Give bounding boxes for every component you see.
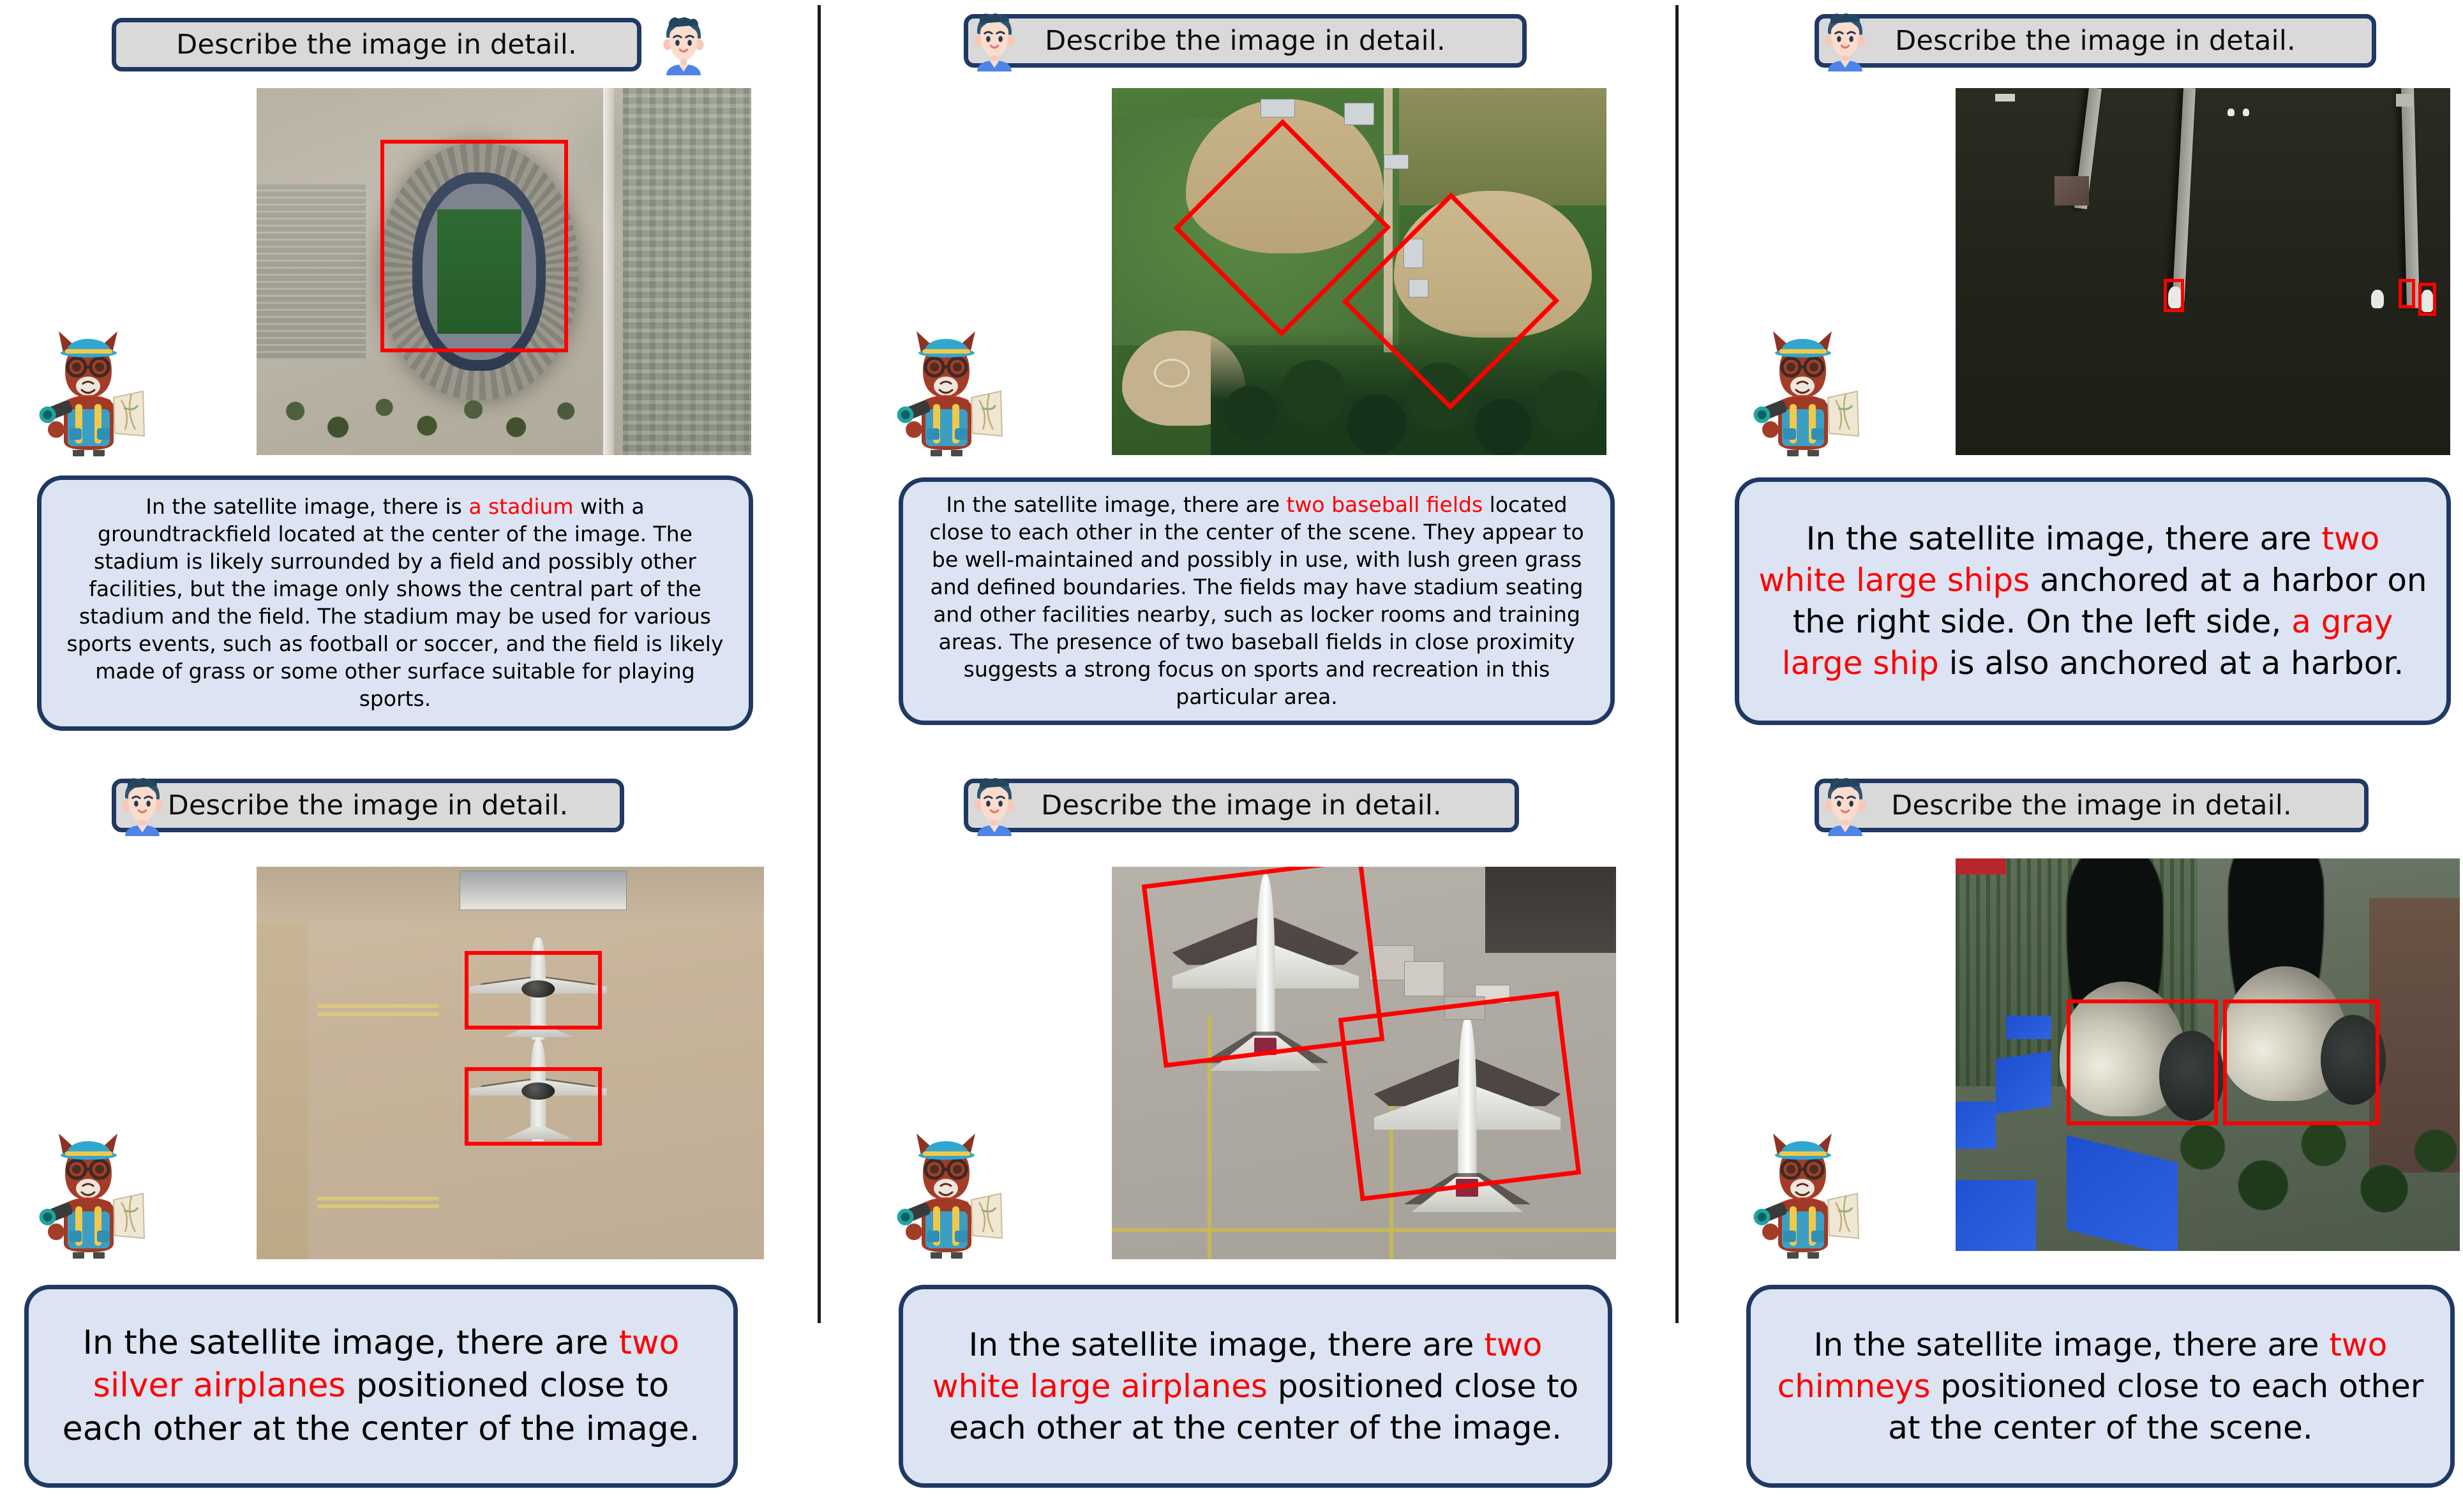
question-text: Describe the image in detail. [1045, 25, 1446, 57]
bounding-box-ship-white-2 [2418, 283, 2436, 316]
person-avatar-icon [653, 14, 714, 75]
question-bubble-5[interactable]: Describe the image in detail. [964, 779, 1519, 832]
bounding-box-chimney-1 [2067, 999, 2218, 1125]
question-row-6: Describe the image in detail. [1815, 779, 2369, 832]
llama-mascot-icon [886, 322, 1007, 456]
person-avatar-icon [964, 10, 1025, 71]
answer-bubble-3: In the satellite image, there are two wh… [1735, 477, 2451, 725]
satellite-image-silver-airplanes [257, 867, 764, 1259]
person-avatar-icon [1815, 775, 1876, 836]
answer-text-4: In the satellite image, there are two si… [48, 1322, 714, 1451]
question-bubble-4[interactable]: Describe the image in detail. [112, 779, 624, 832]
column-divider-1 [818, 5, 821, 1323]
satellite-image-stadium [257, 88, 751, 455]
answer-bubble-6: In the satellite image, there are two ch… [1746, 1285, 2455, 1488]
question-text: Describe the image in detail. [1041, 790, 1442, 821]
question-bubble-2[interactable]: Describe the image in detail. [964, 14, 1527, 68]
satellite-image-white-airplanes [1112, 867, 1616, 1259]
question-row-2: Describe the image in detail. [964, 14, 1527, 68]
bounding-box-chimney-2 [2223, 999, 2379, 1125]
answer-text-6: In the satellite image, there are two ch… [1770, 1324, 2431, 1449]
bounding-box-airliner-2 [1338, 991, 1581, 1201]
question-text: Describe the image in detail. [1891, 790, 2292, 821]
person-avatar-icon [964, 775, 1025, 836]
question-text: Describe the image in detail. [176, 29, 577, 61]
question-row-3: Describe the image in detail. [1815, 14, 2376, 68]
llama-mascot-icon [1742, 322, 1864, 456]
answer-text-1: In the satellite image, there is a stadi… [61, 493, 730, 712]
question-row-4: Describe the image in detail. [112, 779, 624, 832]
llama-mascot-icon [28, 1125, 149, 1259]
question-row-5: Describe the image in detail. [964, 779, 1519, 832]
answer-bubble-2: In the satellite image, there are two ba… [899, 477, 1615, 725]
question-bubble-3[interactable]: Describe the image in detail. [1815, 14, 2376, 68]
llama-mascot-icon [28, 322, 149, 456]
question-row-1: Describe the image in detail. [112, 14, 714, 75]
answer-text-3: In the satellite image, there are two wh… [1758, 518, 2427, 684]
satellite-image-harbor-ships [1956, 88, 2450, 455]
answer-bubble-4: In the satellite image, there are two si… [24, 1285, 738, 1488]
question-text: Describe the image in detail. [168, 790, 569, 821]
satellite-image-baseball-fields [1112, 88, 1606, 455]
question-text: Describe the image in detail. [1895, 25, 2296, 57]
answer-bubble-1: In the satellite image, there is a stadi… [37, 475, 753, 731]
person-avatar-icon [112, 775, 173, 836]
llama-mascot-icon [886, 1125, 1007, 1259]
answer-text-5: In the satellite image, there are two wh… [922, 1324, 1589, 1449]
bounding-box-ship-gray [2164, 279, 2185, 312]
bounding-box-ship-white-1 [2399, 279, 2415, 308]
answer-text-2: In the satellite image, there are two ba… [922, 491, 1591, 710]
answer-bubble-5: In the satellite image, there are two wh… [899, 1285, 1612, 1488]
question-bubble-1[interactable]: Describe the image in detail. [112, 18, 641, 71]
llama-mascot-icon [1742, 1125, 1864, 1259]
person-avatar-icon [1815, 10, 1876, 71]
question-bubble-6[interactable]: Describe the image in detail. [1815, 779, 2369, 832]
bounding-box-stadium [380, 140, 569, 353]
bounding-box-airplane-2 [465, 1067, 602, 1146]
column-divider-2 [1675, 5, 1679, 1323]
bounding-box-airplane-1 [465, 951, 602, 1029]
satellite-image-chimneys [1956, 858, 2460, 1251]
